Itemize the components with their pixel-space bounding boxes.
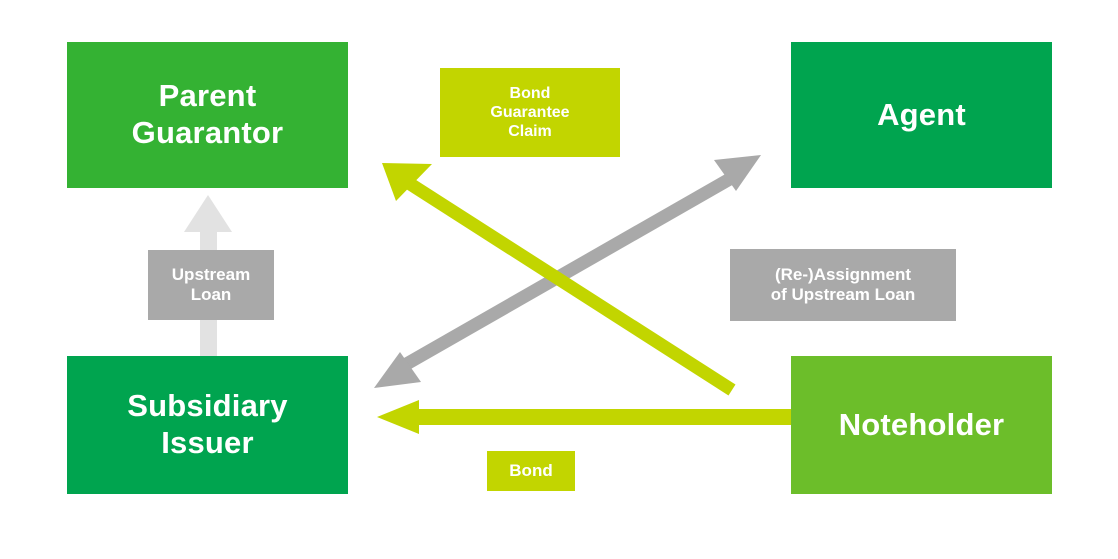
- edge-label-bond[interactable]: Bond: [487, 451, 575, 491]
- entity-label-agent: Agent: [877, 97, 966, 134]
- edge-label-line-3: Claim: [490, 122, 569, 141]
- entity-label-line-2: Guarantor: [132, 115, 284, 152]
- edge-label-line-1: Upstream: [172, 265, 250, 285]
- edge-label-line-2: of Upstream Loan: [771, 285, 916, 305]
- entity-box-noteholder[interactable]: Noteholder: [791, 356, 1052, 494]
- edge-label-text: Upstream Loan: [172, 265, 250, 306]
- arrow-bond: [377, 400, 792, 434]
- diagram-canvas: Parent Guarantor Agent Subsidiary Issuer…: [0, 0, 1118, 559]
- edge-label-text: Bond Guarantee Claim: [490, 84, 569, 142]
- edge-label-text: Bond: [509, 461, 552, 481]
- arrow-reassignment-of-upstream-loan: [374, 155, 761, 388]
- entity-box-subsidiary-issuer[interactable]: Subsidiary Issuer: [67, 356, 348, 494]
- entity-box-parent-guarantor[interactable]: Parent Guarantor: [67, 42, 348, 188]
- edge-label-text: (Re-)Assignment of Upstream Loan: [771, 265, 916, 306]
- edge-label-line-2: Guarantee: [490, 103, 569, 122]
- edge-label-bond-guarantee-claim[interactable]: Bond Guarantee Claim: [440, 68, 620, 157]
- arrow-bond-guarantee-claim: [382, 163, 732, 390]
- edge-label-line-1: (Re-)Assignment: [771, 265, 916, 285]
- entity-label-line-1: Noteholder: [839, 407, 1005, 444]
- edge-label-line-1: Bond: [490, 84, 569, 103]
- edge-label-line-1: Bond: [509, 461, 552, 481]
- entity-label-subsidiary-issuer: Subsidiary Issuer: [127, 388, 288, 461]
- entity-label-line-2: Issuer: [127, 425, 288, 462]
- edge-label-upstream-loan[interactable]: Upstream Loan: [148, 250, 274, 320]
- entity-label-line-1: Parent: [132, 78, 284, 115]
- entity-label-noteholder: Noteholder: [839, 407, 1005, 444]
- entity-box-agent[interactable]: Agent: [791, 42, 1052, 188]
- entity-label-line-1: Agent: [877, 97, 966, 134]
- entity-label-line-1: Subsidiary: [127, 388, 288, 425]
- entity-label-parent-guarantor: Parent Guarantor: [132, 78, 284, 151]
- edge-label-line-2: Loan: [172, 285, 250, 305]
- edge-label-reassignment-of-upstream-loan[interactable]: (Re-)Assignment of Upstream Loan: [730, 249, 956, 321]
